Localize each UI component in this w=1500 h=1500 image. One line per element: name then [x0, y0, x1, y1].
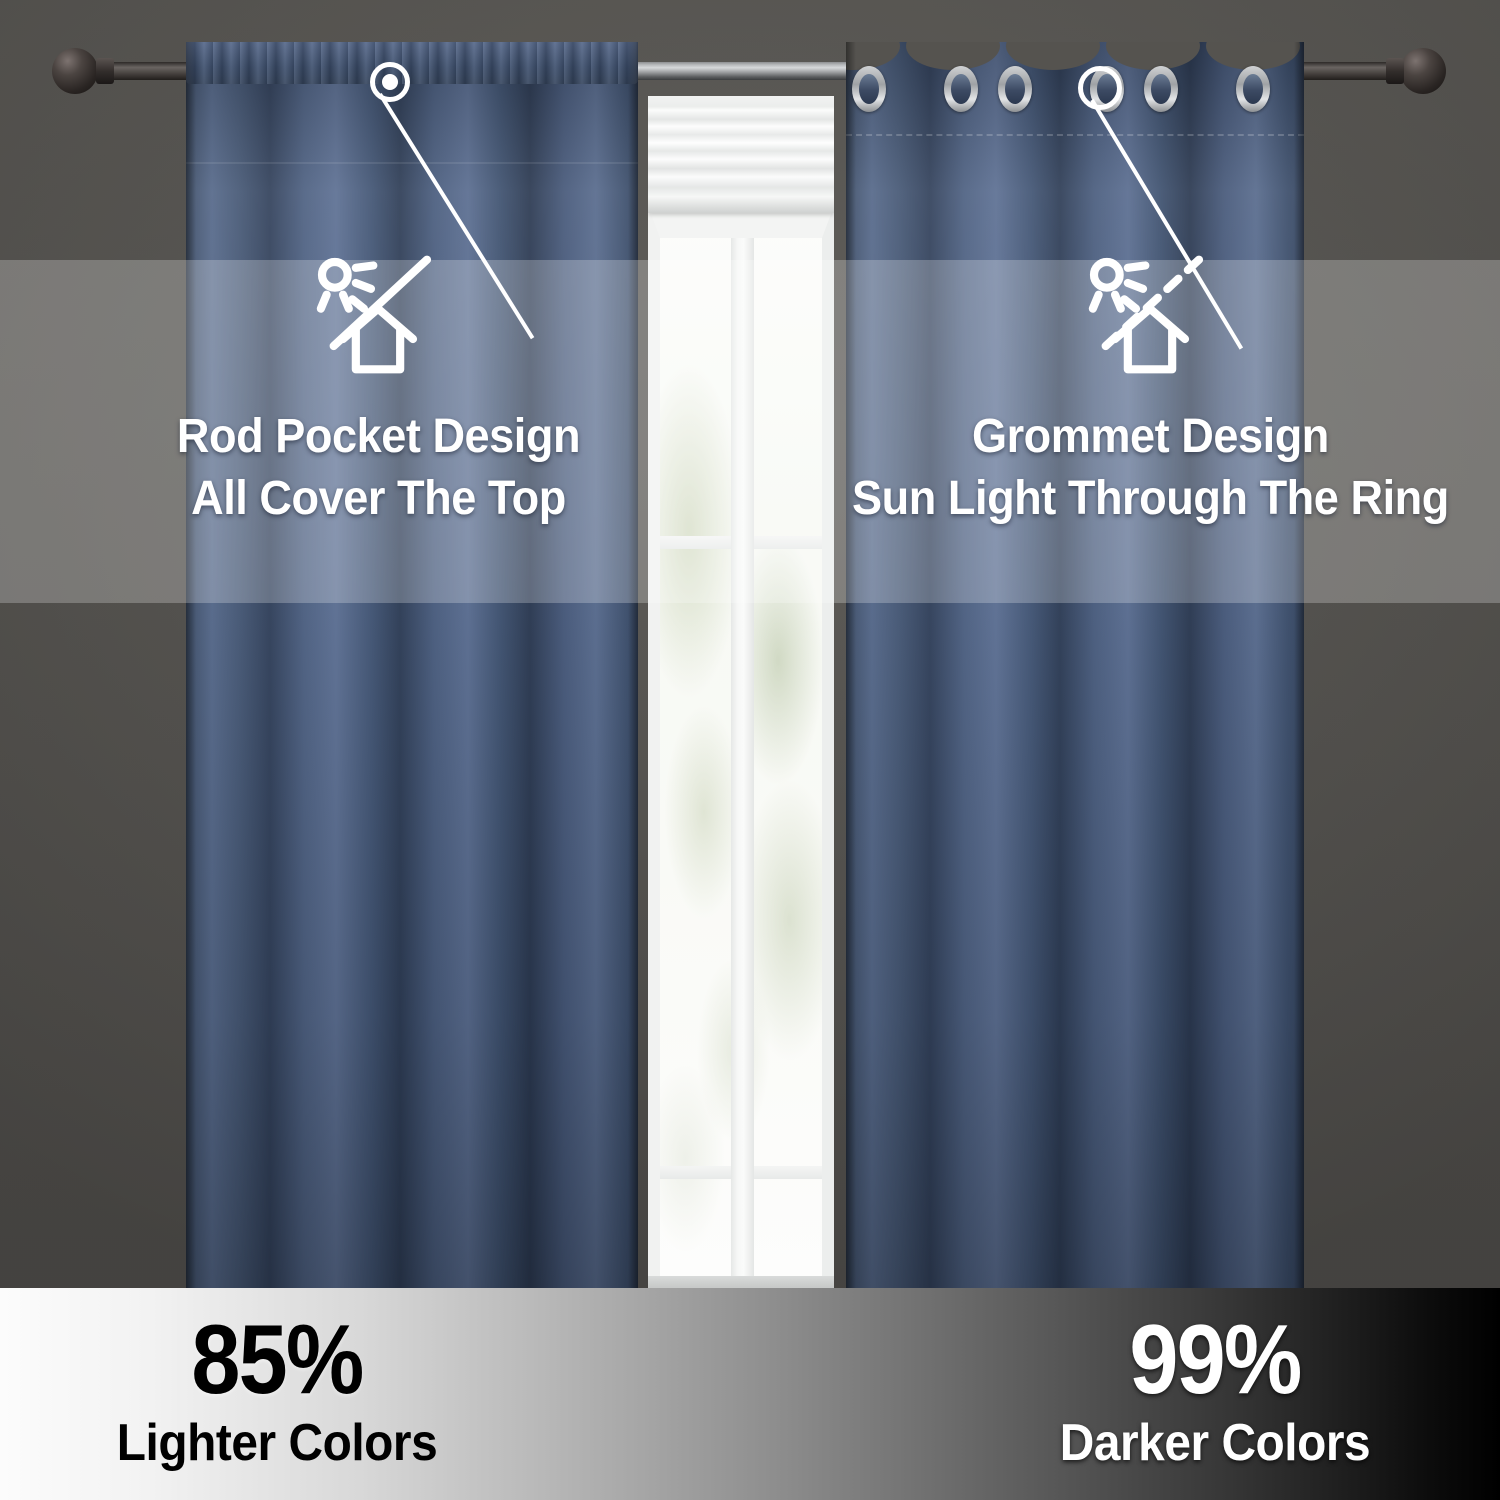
feature-block-rod-pocket: Rod Pocket Design All Cover The Top — [58, 248, 698, 531]
grommet-ring — [1144, 66, 1178, 112]
curtain-sheen — [186, 42, 638, 1292]
roman-shade — [648, 96, 834, 213]
curtain-panel-rod-pocket — [186, 42, 638, 1292]
rod-pocket-seam — [186, 162, 638, 164]
callout-marker-grommet — [1078, 66, 1122, 110]
grommet-header — [846, 42, 1304, 138]
stat-percent: 99% — [1022, 1310, 1409, 1408]
feature-title-line1: Grommet Design — [852, 406, 1449, 468]
grommet-ring — [944, 66, 978, 112]
feature-block-grommet: Grommet Design Sun Light Through The Rin… — [800, 248, 1500, 531]
grommet-ring — [998, 66, 1032, 112]
curtain-sheen — [846, 42, 1304, 1292]
stat-darker-colors: 99% Darker Colors — [1000, 1310, 1430, 1474]
window-sill — [648, 1276, 834, 1288]
product-feature-image: Rod Pocket Design All Cover The Top Grom… — [0, 0, 1500, 1500]
grommet-ring — [1236, 66, 1270, 112]
blackout-stats-banner: 85% Lighter Colors 99% Darker Colors — [0, 1288, 1500, 1500]
stat-label-text: Lighter Colors — [79, 1414, 475, 1474]
callout-marker-rod-pocket — [370, 62, 410, 102]
feature-title-line2: All Cover The Top — [176, 468, 579, 530]
feature-title-line2: Sun Light Through The Ring — [852, 468, 1449, 530]
grommet-stitch-line — [846, 134, 1304, 136]
finial-ball-left — [52, 48, 100, 96]
grommet-ring — [852, 66, 886, 112]
feature-title-line1: Rod Pocket Design — [176, 406, 579, 468]
curtain-panel-grommet — [846, 42, 1304, 1292]
stat-label-text: Darker Colors — [1017, 1414, 1413, 1474]
sun-through-house-icon — [1080, 248, 1220, 388]
stat-percent: 85% — [84, 1310, 471, 1408]
rod-pocket-header — [186, 42, 638, 84]
stat-lighter-colors: 85% Lighter Colors — [62, 1310, 492, 1474]
sun-blocked-house-icon — [308, 248, 448, 388]
finial-ball-right — [1400, 48, 1448, 96]
